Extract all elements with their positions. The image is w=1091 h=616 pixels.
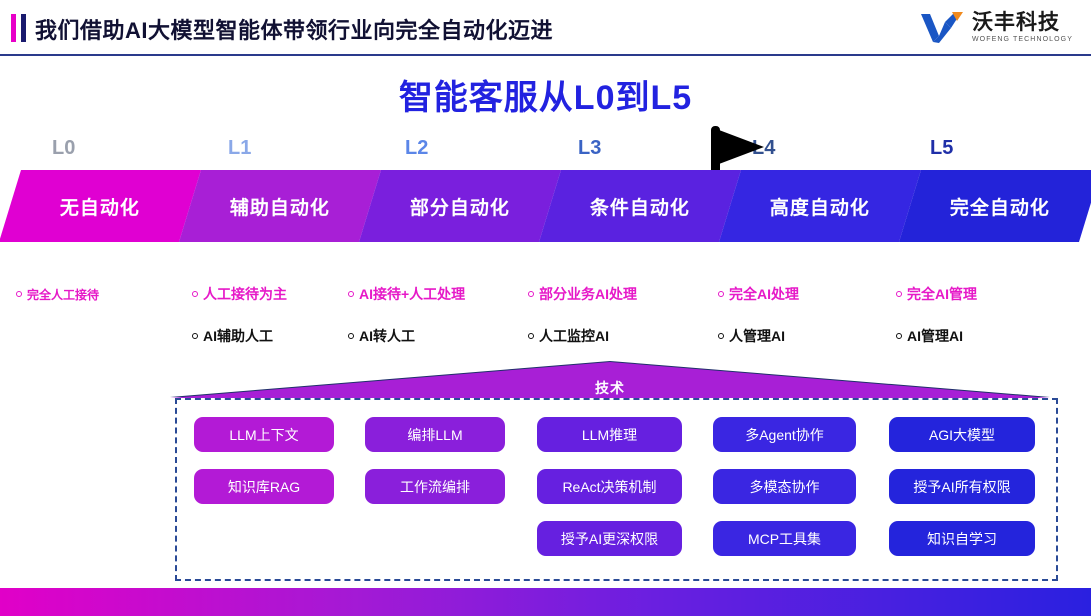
- description-column: AI接待+人工处理AI转人工: [348, 280, 465, 350]
- technology-tag[interactable]: MCP工具集: [713, 521, 856, 556]
- bullet-dot-icon: [192, 333, 198, 339]
- bullet-dot-icon: [718, 333, 724, 339]
- description-item: AI辅助人工: [192, 322, 287, 350]
- header-accent-pink: [11, 14, 16, 42]
- description-item: 人工监控AI: [528, 322, 637, 350]
- level-card-label: 无自动化: [60, 193, 140, 220]
- level-card-label: 高度自动化: [770, 193, 870, 220]
- level-code-l1: L1: [228, 137, 251, 160]
- bullet-dot-icon: [16, 291, 22, 297]
- description-item-label: 完全人工接待: [27, 286, 99, 303]
- description-item: 完全人工接待: [16, 280, 99, 308]
- description-item: AI管理AI: [896, 322, 977, 350]
- description-item-label: 完全AI管理: [907, 284, 977, 304]
- level-code-l2: L2: [405, 137, 428, 160]
- page-header: 我们借助AI大模型智能体带领行业向完全自动化迈进 沃丰科技 WOFENG TEC…: [0, 0, 1091, 55]
- description-item-label: AI接待+人工处理: [359, 284, 465, 304]
- level-code-l0: L0: [52, 137, 75, 160]
- technology-tag[interactable]: AGI大模型: [889, 417, 1035, 452]
- description-item: 人工接待为主: [192, 280, 287, 308]
- description-item: 完全AI处理: [718, 280, 799, 308]
- description-column: 完全人工接待: [16, 280, 99, 308]
- description-item: 人管理AI: [718, 322, 799, 350]
- bullet-dot-icon: [192, 291, 198, 297]
- flag-cloth: [719, 130, 764, 164]
- page-title: 智能客服从L0到L5: [0, 70, 1091, 119]
- technology-tag-container: LLM上下文知识库RAG编排LLM工作流编排LLM推理ReAct决策机制授予AI…: [175, 398, 1058, 581]
- level-code-l3: L3: [578, 137, 601, 160]
- technology-tag[interactable]: 工作流编排: [365, 469, 505, 504]
- description-item-label: 完全AI处理: [729, 284, 799, 304]
- level-card-label: 完全自动化: [950, 193, 1050, 220]
- technology-tag[interactable]: 授予AI所有权限: [889, 469, 1035, 504]
- header-divider: [0, 54, 1091, 56]
- technology-tag[interactable]: 多Agent协作: [713, 417, 856, 452]
- company-logo: 沃丰科技 WOFENG TECHNOLOGY: [919, 6, 1073, 48]
- technology-banner-label: 技术: [170, 378, 1050, 398]
- technology-tag[interactable]: LLM推理: [537, 417, 682, 452]
- level-card-l3[interactable]: 条件自动化: [539, 170, 741, 242]
- level-card-l2[interactable]: 部分自动化: [359, 170, 561, 242]
- description-item-label: AI转人工: [359, 326, 415, 346]
- bullet-dot-icon: [528, 291, 534, 297]
- level-card-l0[interactable]: 无自动化: [0, 170, 201, 242]
- technology-banner: 技术: [170, 362, 1050, 398]
- description-column: 人工接待为主AI辅助人工: [192, 280, 287, 350]
- technology-tag[interactable]: 编排LLM: [365, 417, 505, 452]
- description-item-label: 人工监控AI: [539, 326, 609, 346]
- level-card-label: 部分自动化: [410, 193, 510, 220]
- technology-tag[interactable]: 知识自学习: [889, 521, 1035, 556]
- bullet-dot-icon: [528, 333, 534, 339]
- bullet-dot-icon: [896, 333, 902, 339]
- description-item: AI转人工: [348, 322, 465, 350]
- description-column: 部分业务AI处理人工监控AI: [528, 280, 637, 350]
- level-card-l4[interactable]: 高度自动化: [719, 170, 921, 242]
- bullet-dot-icon: [718, 291, 724, 297]
- wofeng-w-icon: [919, 10, 965, 44]
- description-item-label: AI辅助人工: [203, 326, 273, 346]
- description-item: 完全AI管理: [896, 280, 977, 308]
- bullet-dot-icon: [896, 291, 902, 297]
- level-code-l5: L5: [930, 137, 953, 160]
- header-title: 我们借助AI大模型智能体带领行业向完全自动化迈进: [35, 13, 553, 45]
- level-card-label: 辅助自动化: [230, 193, 330, 220]
- bullet-dot-icon: [348, 291, 354, 297]
- technology-tag[interactable]: LLM上下文: [194, 417, 334, 452]
- description-item: AI接待+人工处理: [348, 280, 465, 308]
- level-card-label: 条件自动化: [590, 193, 690, 220]
- footer-gradient-bar: [0, 588, 1091, 616]
- description-item-label: 人工接待为主: [203, 284, 287, 304]
- level-description-list: 完全人工接待人工接待为主AI辅助人工AI接待+人工处理AI转人工部分业务AI处理…: [0, 280, 1091, 355]
- technology-tag[interactable]: 多模态协作: [713, 469, 856, 504]
- bullet-dot-icon: [348, 333, 354, 339]
- technology-tag[interactable]: ReAct决策机制: [537, 469, 682, 504]
- description-item-label: AI管理AI: [907, 326, 963, 346]
- description-item: 部分业务AI处理: [528, 280, 637, 308]
- technology-tag[interactable]: 知识库RAG: [194, 469, 334, 504]
- logo-text-cn: 沃丰科技: [972, 12, 1073, 33]
- description-column: 完全AI管理AI管理AI: [896, 280, 977, 350]
- level-card-l1[interactable]: 辅助自动化: [179, 170, 381, 242]
- description-item-label: 部分业务AI处理: [539, 284, 637, 304]
- header-accent-navy: [21, 14, 26, 42]
- logo-text-en: WOFENG TECHNOLOGY: [972, 36, 1073, 43]
- description-item-label: 人管理AI: [729, 326, 785, 346]
- level-card-l5[interactable]: 完全自动化: [899, 170, 1091, 242]
- description-column: 完全AI处理人管理AI: [718, 280, 799, 350]
- technology-tag[interactable]: 授予AI更深权限: [537, 521, 682, 556]
